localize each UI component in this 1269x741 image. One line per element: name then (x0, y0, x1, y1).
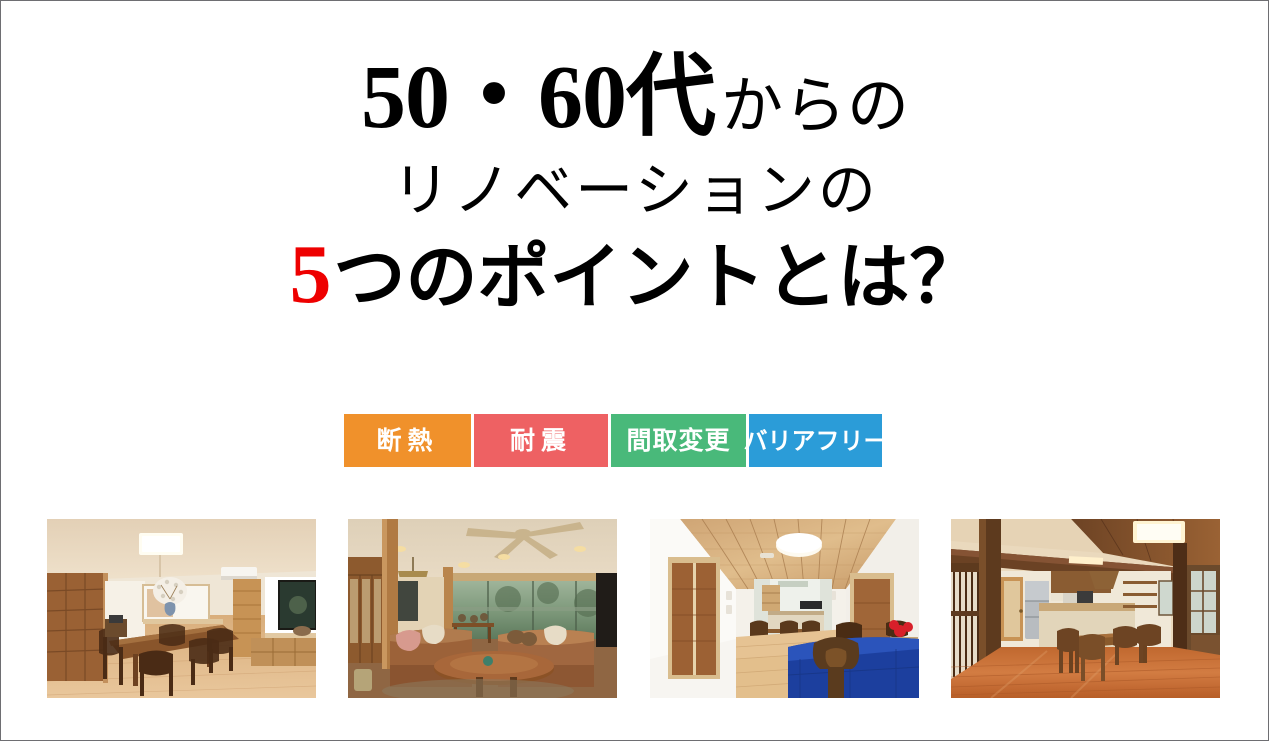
headline-line-1-suffix: からの (715, 69, 910, 142)
tag-row: 断熱 耐震 間取変更 バリアフリー (344, 414, 882, 467)
headline-line-1-main: 50・60代 (361, 48, 715, 147)
photo-open-kitchen-image (951, 519, 1220, 698)
photo-open-kitchen[interactable] (951, 519, 1220, 698)
headline-line-2: リノベーションの (1, 161, 1269, 219)
tag-floorplan-change[interactable]: 間取変更 (611, 414, 746, 467)
headline-line-1: 50・60代からの (1, 53, 1269, 143)
photo-strip (47, 519, 1220, 698)
tag-insulation[interactable]: 断熱 (344, 414, 471, 467)
photo-dining-room-image (47, 519, 316, 698)
tag-earthquake-resistance[interactable]: 耐震 (474, 414, 608, 467)
photo-dining-room[interactable] (47, 519, 316, 698)
headline-number-five: 5 (289, 228, 333, 321)
photo-hallway-room[interactable] (650, 519, 919, 698)
photo-hallway-room-image (650, 519, 919, 698)
headline-line-3-rest: つのポイントとは？ (333, 234, 981, 319)
photo-living-room-image (348, 519, 617, 698)
headline-line-3: 5つのポイントとは？ (1, 233, 1269, 317)
headline-block: 50・60代からの リノベーションの 5つのポイントとは？ (1, 53, 1269, 317)
photo-living-room[interactable] (348, 519, 617, 698)
poster-page: 50・60代からの リノベーションの 5つのポイントとは？ 断熱 耐震 間取変更… (0, 0, 1269, 741)
tag-barrier-free[interactable]: バリアフリー (749, 414, 882, 467)
